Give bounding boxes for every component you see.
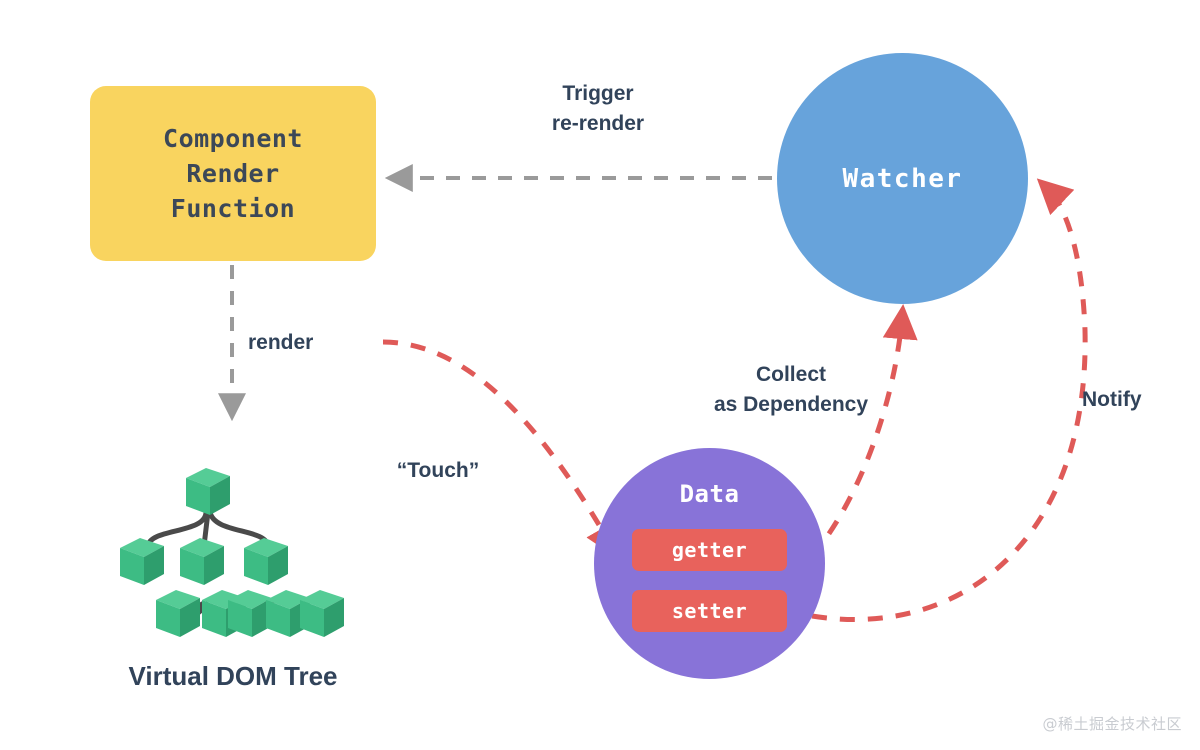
vdom-cube-l3-a	[156, 590, 200, 637]
data-label: Data	[594, 480, 825, 508]
data-node[interactable]: Data getter setter	[594, 448, 825, 679]
edge-label-trigger-re-render: Trigger re-render	[498, 79, 698, 140]
virtual-dom-tree-caption: Virtual DOM Tree	[90, 661, 376, 692]
component-render-function-label: Component Render Function	[163, 121, 303, 226]
vdom-cube-l3-c	[228, 590, 272, 637]
watermark: @稀土掘金技术社区	[1042, 713, 1182, 734]
vdom-cubes	[120, 468, 344, 637]
watcher-node[interactable]: Watcher	[777, 53, 1028, 304]
data-getter-box[interactable]: getter	[632, 529, 787, 571]
vdom-cube-l2-a	[120, 538, 164, 585]
watcher-label: Watcher	[842, 164, 962, 194]
edge-label-render: render	[248, 328, 378, 358]
edge-label-notify: Notify	[1082, 385, 1182, 415]
data-setter-box[interactable]: setter	[632, 590, 787, 632]
diagram-canvas: Component Render Function Watcher Data g…	[0, 0, 1200, 750]
vdom-cube-l2-b	[180, 538, 224, 585]
vdom-cube-l3-e	[300, 590, 344, 637]
component-render-function-node[interactable]: Component Render Function	[90, 86, 376, 261]
vdom-cube-root	[186, 468, 230, 515]
edge-label-collect-as-dependency: Collect as Dependency	[690, 360, 892, 421]
vdom-cube-l2-c	[244, 538, 288, 585]
edge-label-touch: “Touch”	[366, 456, 510, 486]
